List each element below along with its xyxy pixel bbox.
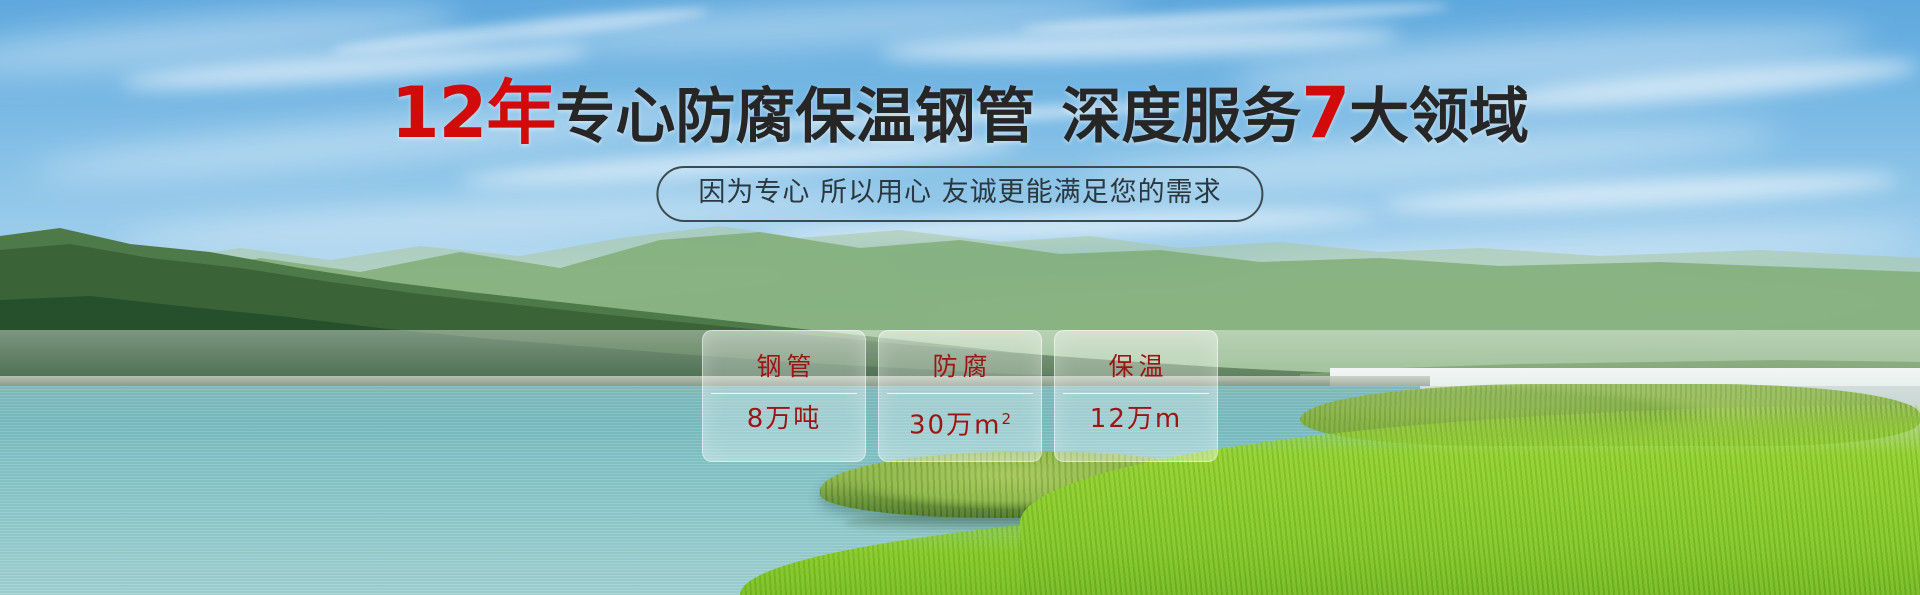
stat-card-label: 钢管 — [751, 353, 816, 381]
stat-card-anticorrosion[interactable]: 防腐 30万m2 — [878, 330, 1042, 462]
headline-fields-number: 7 — [1301, 72, 1349, 154]
subtitle-text: 因为专心 所以用心 友诚更能满足您的需求 — [698, 177, 1221, 208]
stat-card-value: 8万吨 — [747, 404, 822, 434]
promo-banner: 12年专心防腐保温钢管深度服务7大领域 因为专心 所以用心 友诚更能满足您的需求… — [0, 0, 1920, 595]
headline-years-number: 12 — [391, 72, 486, 154]
stat-card-divider — [711, 393, 857, 394]
stats-card-group: 钢管 8万吨 防腐 30万m2 保温 12万m — [702, 330, 1218, 462]
stat-card-value-text: 30万m — [909, 411, 1001, 441]
stat-card-divider — [887, 393, 1033, 394]
headline-service-text: 深度服务 — [1061, 82, 1301, 152]
headline-fields-suffix: 大领域 — [1349, 82, 1529, 152]
stat-card-steel-pipe[interactable]: 钢管 8万吨 — [702, 330, 866, 462]
headline-years-suffix: 年 — [486, 72, 555, 154]
stat-card-label: 保温 — [1103, 353, 1168, 381]
subtitle-pill: 因为专心 所以用心 友诚更能满足您的需求 — [656, 166, 1263, 222]
headline-middle-text: 专心防腐保温钢管 — [555, 82, 1035, 152]
stat-card-label: 防腐 — [927, 353, 992, 381]
stat-card-value-exponent: 2 — [1001, 410, 1011, 428]
stat-card-insulation[interactable]: 保温 12万m — [1054, 330, 1218, 462]
stat-card-value-text: 8万吨 — [747, 404, 822, 434]
stat-card-value: 30万m2 — [909, 404, 1011, 441]
stat-card-divider — [1063, 393, 1209, 394]
page-title: 12年专心防腐保温钢管深度服务7大领域 — [0, 82, 1920, 148]
stat-card-value: 12万m — [1090, 404, 1182, 434]
stat-card-value-text: 12万m — [1090, 404, 1182, 434]
banner-content: 12年专心防腐保温钢管深度服务7大领域 因为专心 所以用心 友诚更能满足您的需求… — [0, 0, 1920, 595]
